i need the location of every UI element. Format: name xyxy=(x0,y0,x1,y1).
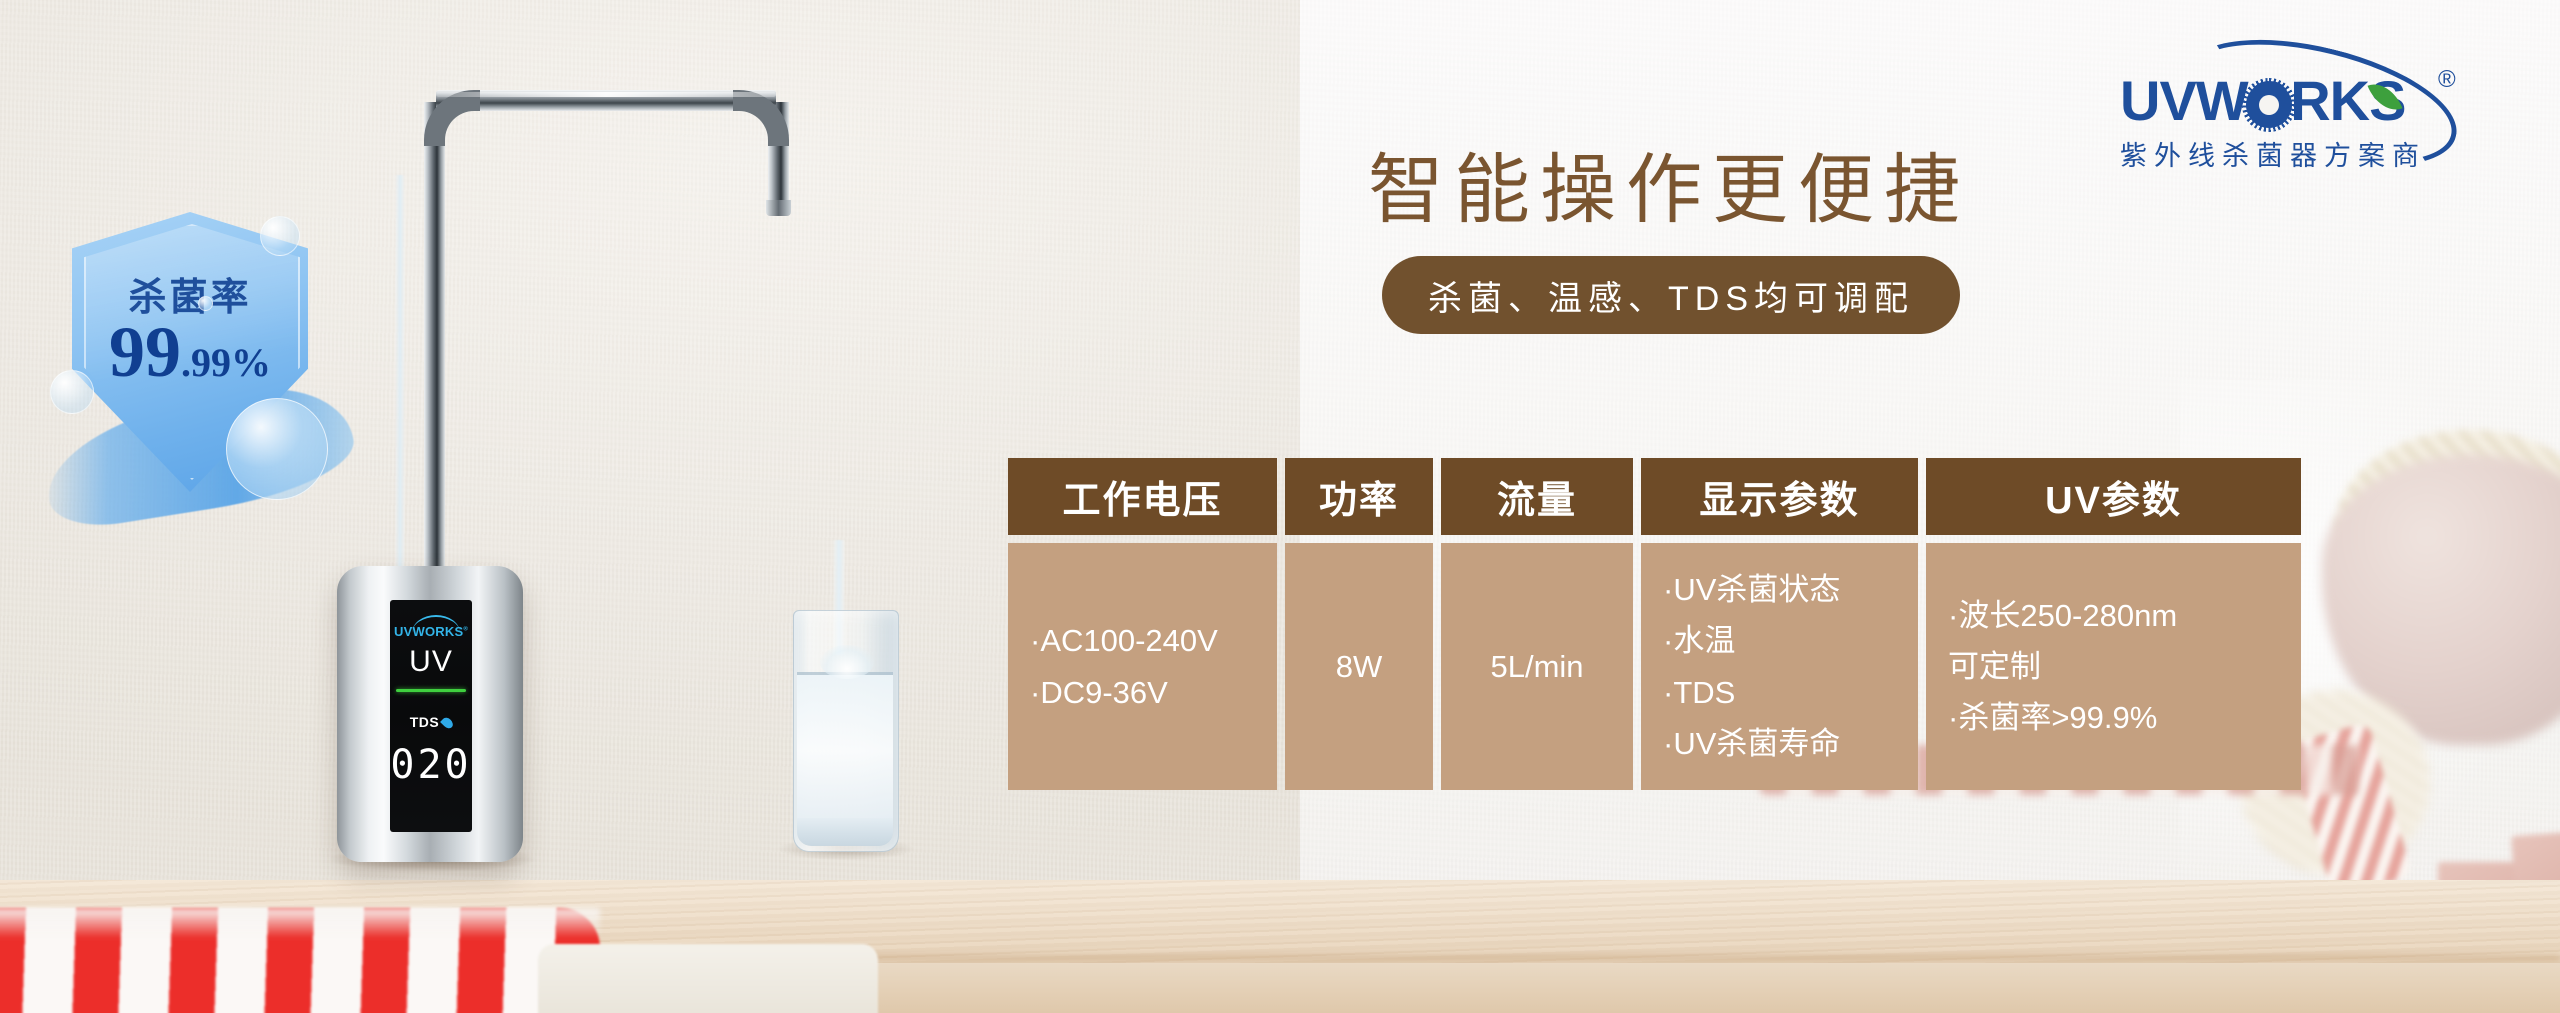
device-mode-label: UV xyxy=(390,645,472,679)
spec-line: ·DC9-36V xyxy=(1030,667,1168,718)
spec-line: ·UV杀菌状态 xyxy=(1663,564,1840,615)
brand-logo: UVWORKS ® 紫外线杀菌器方案商 xyxy=(2086,46,2476,176)
spec-header: 功率 xyxy=(1285,458,1433,535)
spec-column-display: 显示参数 ·UV杀菌状态 ·水温 ·TDS ·UV杀菌寿命 xyxy=(1641,458,1918,790)
spec-line: ·水温 xyxy=(1663,615,1735,666)
spec-header: 流量 xyxy=(1441,458,1633,535)
page-title: 智能操作更便捷 xyxy=(1368,128,1970,238)
spec-line: 可定制 xyxy=(1948,641,2041,692)
glass-base xyxy=(797,818,893,846)
spec-line: 5L/min xyxy=(1490,641,1583,692)
device-logo: UVWORKS® xyxy=(394,624,468,639)
spec-line: 8W xyxy=(1336,641,1383,692)
faucet-corner-left xyxy=(424,90,480,146)
badge-value-unit: % xyxy=(231,340,271,385)
sterilization-rate-badge: 杀菌率 99.99% xyxy=(48,212,348,522)
water-splash xyxy=(820,645,874,679)
logo-subtitle: 紫外线杀菌器方案商 xyxy=(2120,134,2450,173)
spec-line: ·AC100-240V xyxy=(1030,615,1218,666)
device-status-bar xyxy=(396,689,466,692)
spec-column-power: 功率 8W xyxy=(1285,458,1433,790)
faucet-corner-right xyxy=(733,90,789,146)
spec-column-flow: 流量 5L/min xyxy=(1441,458,1633,790)
bacteria-bubble-icon xyxy=(226,398,328,500)
spec-header: 工作电压 xyxy=(1008,458,1277,535)
badge-value: 99.99% xyxy=(72,316,308,388)
badge-value-integer: 99 xyxy=(109,312,181,392)
white-plate xyxy=(538,944,878,1013)
spec-column-uv: UV参数 ·波长250-280nm 可定制 ·杀菌率>99.9% xyxy=(1926,458,2301,790)
faucet xyxy=(380,40,880,600)
device-tds-label: TDS xyxy=(410,714,440,730)
towel-highlight xyxy=(0,908,600,938)
water-drop-icon xyxy=(440,716,455,731)
spec-cell: ·AC100-240V ·DC9-36V xyxy=(1008,543,1277,790)
spec-line: ·波长250-280nm xyxy=(1948,590,2177,641)
device-logo-text: UVWORKS xyxy=(394,624,463,639)
faucet-spout xyxy=(766,200,791,216)
spec-cell: ·UV杀菌状态 ·水温 ·TDS ·UV杀菌寿命 xyxy=(1641,543,1918,790)
feature-pill-label: 杀菌、温感、TDS均可调配 xyxy=(1428,271,1914,320)
badge-label: 杀菌率 xyxy=(72,266,308,321)
spec-cell: 8W xyxy=(1285,543,1433,790)
spec-cell: ·波长250-280nm 可定制 ·杀菌率>99.9% xyxy=(1926,543,2301,790)
logo-o-letter-icon xyxy=(2246,82,2292,128)
spec-line: ·TDS xyxy=(1663,667,1735,718)
faucet-left-pipe xyxy=(424,102,445,602)
device-tds-row: TDS xyxy=(390,714,472,730)
spec-header: 显示参数 xyxy=(1641,458,1918,535)
registered-trademark-icon: ® xyxy=(2438,66,2456,94)
bubble-icon xyxy=(260,216,300,256)
feature-pill: 杀菌、温感、TDS均可调配 xyxy=(1382,256,1960,334)
water-stream xyxy=(395,175,405,625)
faucet-highlight xyxy=(436,92,776,97)
device-tds-value: 020 xyxy=(390,745,472,785)
spec-cell: 5L/min xyxy=(1441,543,1633,790)
device-logo-registered-icon: ® xyxy=(463,627,468,633)
spec-table: 工作电压 ·AC100-240V ·DC9-36V 功率 8W 流量 5L/mi… xyxy=(1008,458,2303,790)
spec-column-voltage: 工作电压 ·AC100-240V ·DC9-36V xyxy=(1008,458,1277,790)
bubble-icon xyxy=(198,296,213,311)
spec-line: ·杀菌率>99.9% xyxy=(1948,692,2157,743)
product-banner: UVWORKS® UV TDS 020 杀菌率 99.99% 智能操作更便捷 杀… xyxy=(0,0,2560,1013)
badge-value-decimal: .99 xyxy=(181,340,231,385)
spec-header: UV参数 xyxy=(1926,458,2301,535)
spec-line: ·UV杀菌寿命 xyxy=(1663,718,1840,769)
bubble-icon xyxy=(50,370,94,414)
